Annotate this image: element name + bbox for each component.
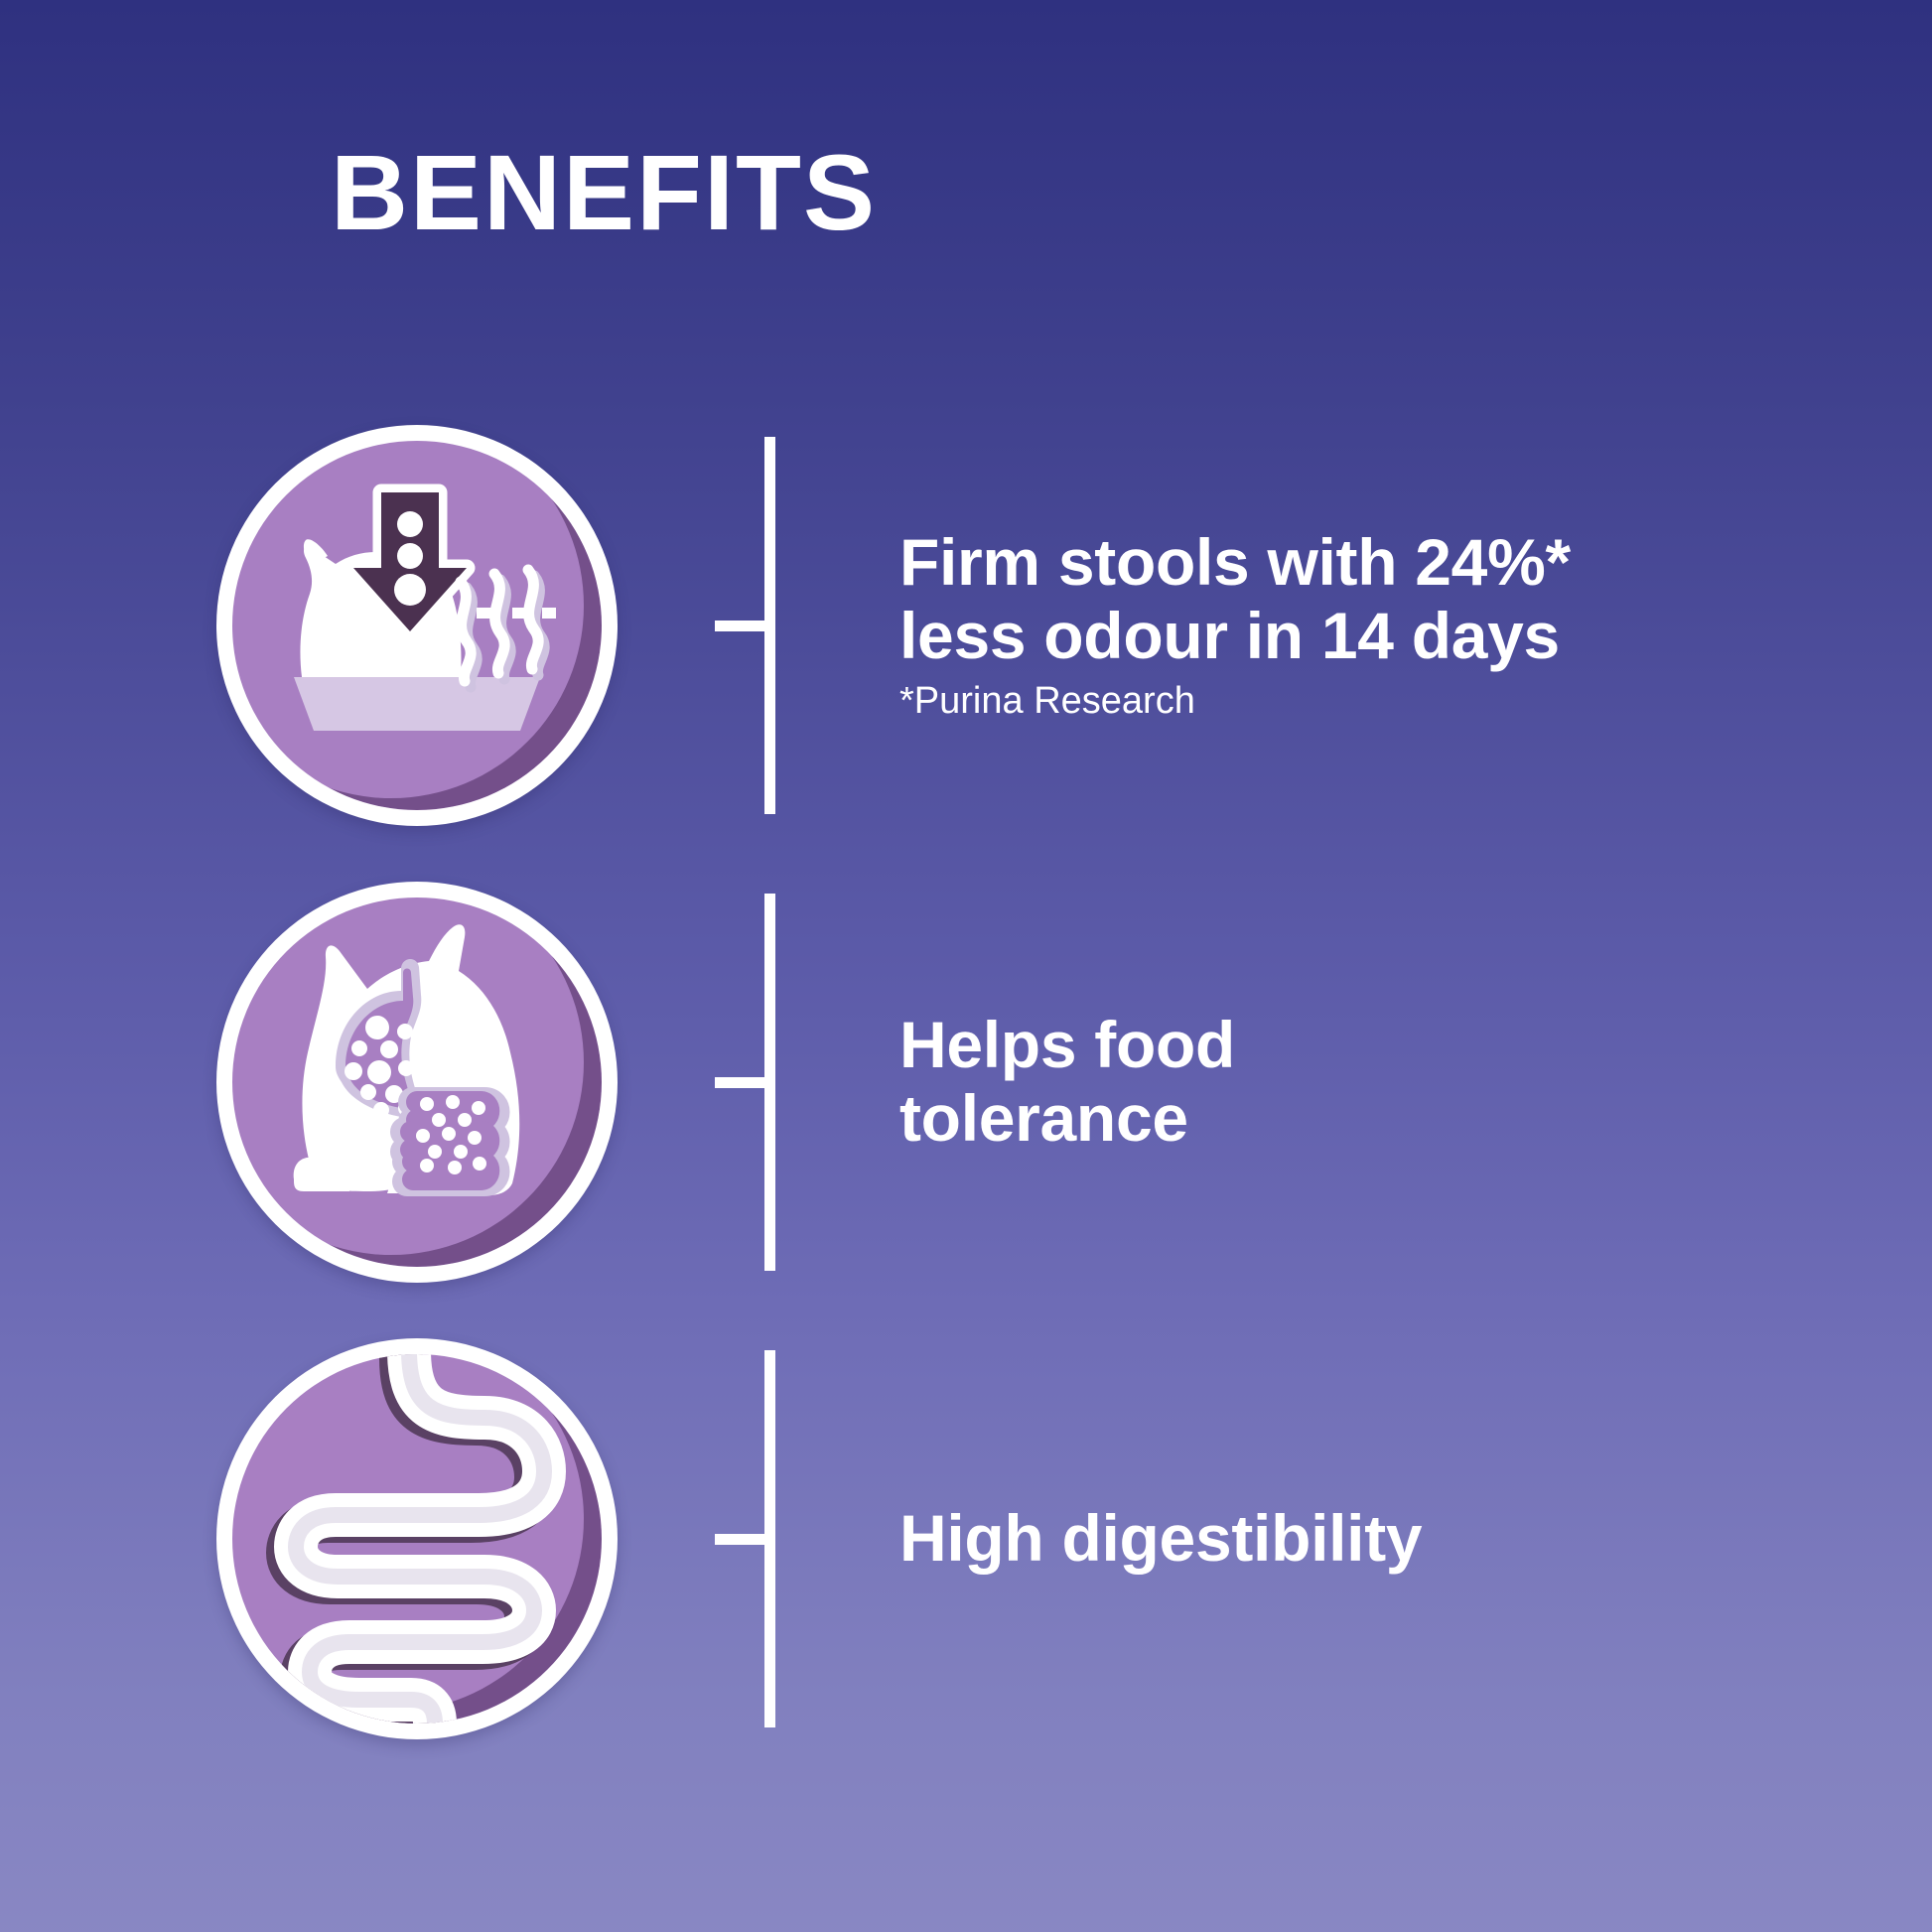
connector-tick (715, 1077, 775, 1088)
benefit-heading: Helps food tolerance (899, 1009, 1235, 1156)
benefit-icon-badge (216, 1338, 618, 1739)
cat-litter-box-odour-icon (232, 441, 602, 810)
connector-tick (715, 1534, 775, 1545)
benefit-row: Helps food tolerance (0, 874, 1588, 1291)
benefit-connector (709, 894, 848, 1271)
benefit-icon-badge (216, 425, 618, 826)
benefit-text-block: High digestibility (899, 1502, 1422, 1576)
benefit-text-block: Helps food tolerance (899, 1009, 1235, 1156)
cat-digestive-stomach-icon (232, 897, 602, 1267)
benefit-row: Firm stools with 24%* less odour in 14 d… (0, 417, 1588, 834)
page-title: BENEFITS (0, 139, 1932, 246)
benefit-footnote: *Purina Research (899, 679, 1571, 725)
benefits-poster: BENEFITS (0, 0, 1932, 1932)
benefit-row: High digestibility (0, 1330, 1588, 1747)
benefit-connector (709, 1350, 848, 1727)
benefit-text-block: Firm stools with 24%* less odour in 14 d… (899, 526, 1571, 724)
benefit-icon-badge (216, 882, 618, 1283)
benefit-connector (709, 437, 848, 814)
benefit-heading: High digestibility (899, 1502, 1422, 1576)
benefit-heading: Firm stools with 24%* less odour in 14 d… (899, 526, 1571, 673)
connector-tick (715, 621, 775, 631)
intestine-icon (232, 1354, 602, 1724)
